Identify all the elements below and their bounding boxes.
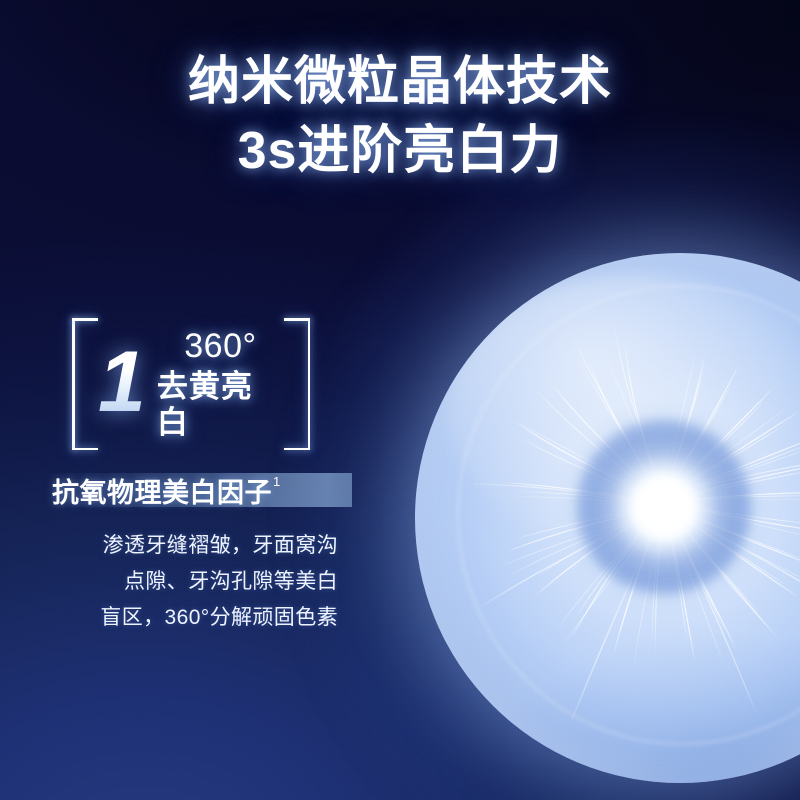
- bracket-right-bottom-cap: [284, 448, 310, 451]
- claim-bracket-block: 1 360° 去黄亮白: [72, 318, 310, 450]
- body-copy-block: 渗透牙缝褶皱，牙面窝沟 点隙、牙沟孔隙等美白 盲区，360°分解顽固色素: [28, 528, 338, 636]
- claim-number: 1: [98, 339, 144, 429]
- promo-poster: 纳米微粒晶体技术 3s进阶亮白力 1 360° 去黄亮白 抗氧物理美白因子 1: [0, 0, 800, 800]
- bracket-right-top-cap: [284, 318, 310, 321]
- nano-crystal-sphere: [415, 253, 800, 783]
- claim-inner: 1 360° 去黄亮白: [98, 318, 284, 450]
- bracket-left-bottom-cap: [72, 448, 98, 451]
- bracket-left-top-cap: [72, 318, 98, 321]
- headline-block: 纳米微粒晶体技术 3s进阶亮白力: [0, 48, 800, 185]
- headline-line-1: 纳米微粒晶体技术: [0, 48, 800, 117]
- headline-line-2: 3s进阶亮白力: [0, 117, 800, 186]
- subtitle-label: 抗氧物理美白因子: [52, 471, 272, 510]
- body-line-3: 盲区，360°分解顽固色素: [28, 600, 338, 636]
- body-line-1: 渗透牙缝褶皱，牙面窝沟: [28, 528, 338, 564]
- claim-secondary-text: 去黄亮白: [157, 369, 284, 441]
- bracket-left-icon: [72, 318, 98, 450]
- claim-primary-text: 360°: [184, 327, 256, 366]
- subtitle-superscript: 1: [273, 474, 281, 489]
- body-line-2: 点隙、牙沟孔隙等美白: [28, 564, 338, 600]
- subtitle-text: 抗氧物理美白因子 1: [52, 473, 281, 507]
- bracket-right-icon: [284, 318, 310, 450]
- claim-text-stack: 360° 去黄亮白: [157, 327, 284, 440]
- subtitle-row: 抗氧物理美白因子 1: [52, 473, 352, 507]
